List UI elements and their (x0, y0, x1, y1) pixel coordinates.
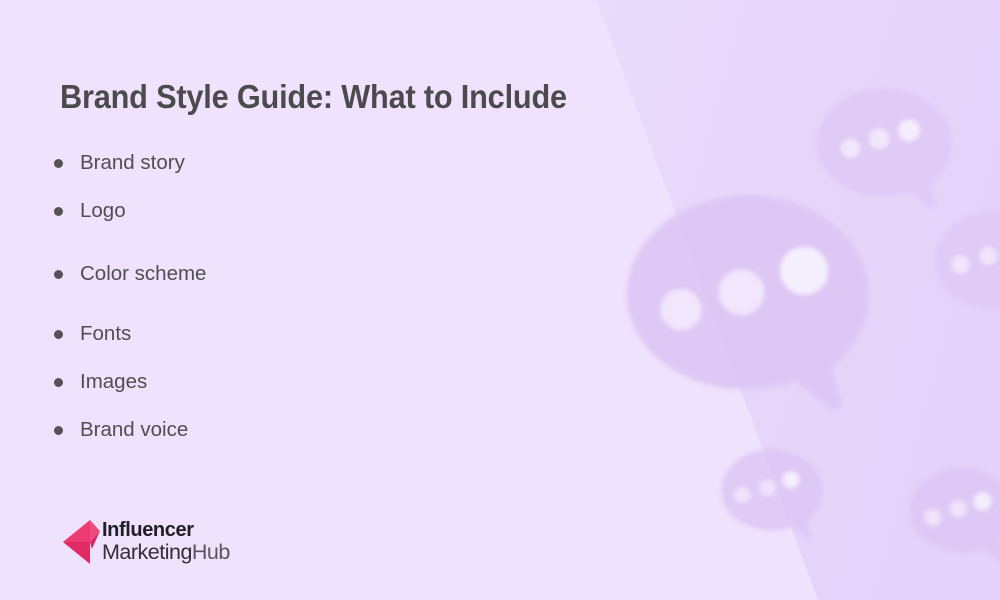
logo-marketing-text: Marketing (102, 540, 192, 564)
bullet-dot-icon (54, 426, 63, 435)
list-item-label: Fonts (80, 323, 131, 345)
bullet-dot-icon (54, 207, 63, 216)
list-item: Brand story (54, 152, 206, 174)
logo-line-marketinghub: MarketingHub (102, 542, 230, 564)
slide-canvas: Brand Style Guide: What to Include Brand… (0, 0, 1000, 600)
list-item: Images (54, 371, 206, 393)
list-item: Logo (54, 200, 206, 222)
logo-hub-text: Hub (192, 540, 230, 564)
brand-logo: Influencer MarketingHub (60, 518, 230, 566)
slide-content: Brand Style Guide: What to Include Brand… (0, 0, 1000, 600)
list-spacer (54, 222, 206, 263)
bullet-dot-icon (54, 159, 63, 168)
pink-arrow-icon (60, 518, 104, 566)
bullet-dot-icon (54, 270, 63, 279)
logo-wordmark: Influencer MarketingHub (102, 520, 230, 564)
list-item: Color scheme (54, 263, 206, 285)
list-spacer (54, 345, 206, 371)
list-item: Brand voice (54, 419, 206, 441)
bullet-list: Brand story Logo Color scheme Fonts Imag… (54, 152, 206, 441)
list-item-label: Images (80, 371, 147, 393)
bullet-dot-icon (54, 378, 63, 387)
list-spacer (54, 393, 206, 419)
list-spacer (54, 174, 206, 200)
list-item: Fonts (54, 323, 206, 345)
list-spacer (54, 285, 206, 323)
page-title: Brand Style Guide: What to Include (60, 78, 567, 116)
list-item-label: Color scheme (80, 263, 206, 285)
list-item-label: Brand voice (80, 419, 188, 441)
list-item-label: Brand story (80, 152, 185, 174)
logo-line-influencer: Influencer (102, 520, 230, 540)
list-item-label: Logo (80, 200, 126, 222)
bullet-dot-icon (54, 330, 63, 339)
